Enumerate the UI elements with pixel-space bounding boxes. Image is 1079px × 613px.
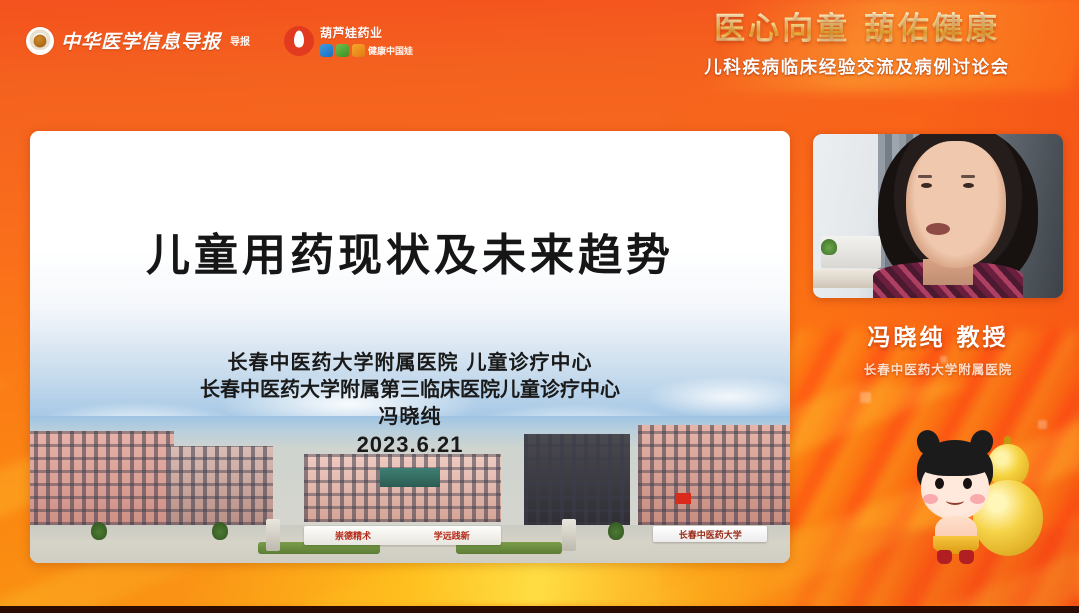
video-speaker-eye-left: [921, 183, 932, 188]
chip-green-icon: [336, 44, 349, 57]
campus-motto-right: 学远践新: [434, 529, 470, 542]
gourd-badge-icon: [284, 26, 314, 56]
logo-huluwa-name: 葫芦娃药业: [320, 24, 413, 41]
presentation-slide[interactable]: 崇德精术 学远践新 长春中医药大学 儿童用药现状及未来趋势 长春中医药大学附属医…: [30, 131, 790, 563]
event-banner-title: 医心向童 葫佑健康: [657, 12, 1057, 48]
video-background-plant: [821, 239, 837, 255]
bottom-border: [0, 606, 1079, 613]
speaker-caption: 冯晓纯 教授 长春中医药大学附属医院: [813, 318, 1063, 378]
speaker-organization: 长春中医药大学附属医院: [813, 359, 1063, 378]
mascot-mouth: [946, 496, 964, 505]
slide-date: 2023.6.21: [30, 430, 790, 461]
mascot-boot-left: [937, 550, 952, 564]
logo-cma-name: 中华医学信息导报: [61, 27, 221, 54]
mascot-boot-right: [959, 550, 974, 564]
speaker-name: 冯晓纯 教授: [813, 318, 1063, 352]
logo-cma-suffix: 导报: [230, 33, 250, 48]
cma-seal-icon: [26, 27, 54, 55]
chip-orange-icon: [352, 44, 365, 57]
chip-blue-icon: [320, 44, 333, 57]
logo-huluwa-text-group: 葫芦娃药业 健康中国娃: [320, 24, 413, 57]
slide-subtitle-line-1: 长春中医药大学附属医院 儿童诊疗中心: [30, 349, 790, 376]
campus-flag-icon: [675, 493, 691, 504]
video-speaker-brow-left: [918, 175, 932, 178]
campus-gate-sign: 长春中医药大学: [653, 526, 767, 542]
campus-gate-name: 长春中医药大学: [679, 528, 742, 541]
campus-motto-sign: 崇德精术 学远践新: [304, 526, 502, 545]
mascot-bangs: [921, 454, 989, 476]
slide-subtitle-line-3: 冯晓纯: [30, 403, 790, 430]
logo-chinese-medical-association: 中华医学信息导报 导报: [26, 27, 250, 55]
speaker-video-feed[interactable]: [813, 134, 1063, 298]
mascot-eye-left: [935, 478, 944, 489]
slide-title: 儿童用药现状及未来趋势: [30, 219, 790, 283]
broadcast-stage: 中华医学信息导报 导报 葫芦娃药业 健康中国娃 医心向童 葫佑健康 儿科疾病临床…: [0, 0, 1079, 613]
huluwa-mascot: [905, 432, 1065, 572]
sparkle-icon: [1038, 420, 1047, 429]
logo-huluwa-tagline-row: 健康中国娃: [320, 44, 413, 57]
logo-huluwa-tagline: 健康中国娃: [368, 44, 413, 57]
campus-gate-pillar-left: [266, 519, 280, 551]
event-banner-subtitle: 儿科疾病临床经验交流及病例讨论会: [657, 54, 1057, 79]
campus-tree: [608, 522, 624, 540]
video-speaker-brow-right: [961, 175, 975, 178]
campus-tree: [212, 522, 228, 540]
mascot-cheek-right: [970, 494, 985, 504]
logo-huluwa-pharma: 葫芦娃药业 健康中国娃: [284, 24, 413, 57]
video-speaker-mouth: [926, 223, 950, 235]
campus-gate-pillar-right: [562, 519, 576, 551]
sparkle-icon: [860, 392, 871, 403]
campus-building-center-roof: [380, 468, 441, 487]
event-banner: 医心向童 葫佑健康 儿科疾病临床经验交流及病例讨论会: [657, 12, 1057, 79]
slide-subtitle-line-2: 长春中医药大学附属第三临床医院儿童诊疗中心: [30, 376, 790, 403]
campus-motto-left: 崇德精术: [335, 529, 371, 542]
mascot-cheek-left: [923, 494, 938, 504]
slide-subtitle-block: 长春中医药大学附属医院 儿童诊疗中心 长春中医药大学附属第三临床医院儿童诊疗中心…: [30, 349, 790, 461]
campus-tree: [91, 522, 107, 540]
sponsor-logo-bar: 中华医学信息导报 导报 葫芦娃药业 健康中国娃: [26, 24, 413, 57]
campus-building-center: [304, 454, 502, 522]
mascot-eye-right: [963, 478, 972, 489]
video-speaker-face: [906, 141, 1006, 269]
